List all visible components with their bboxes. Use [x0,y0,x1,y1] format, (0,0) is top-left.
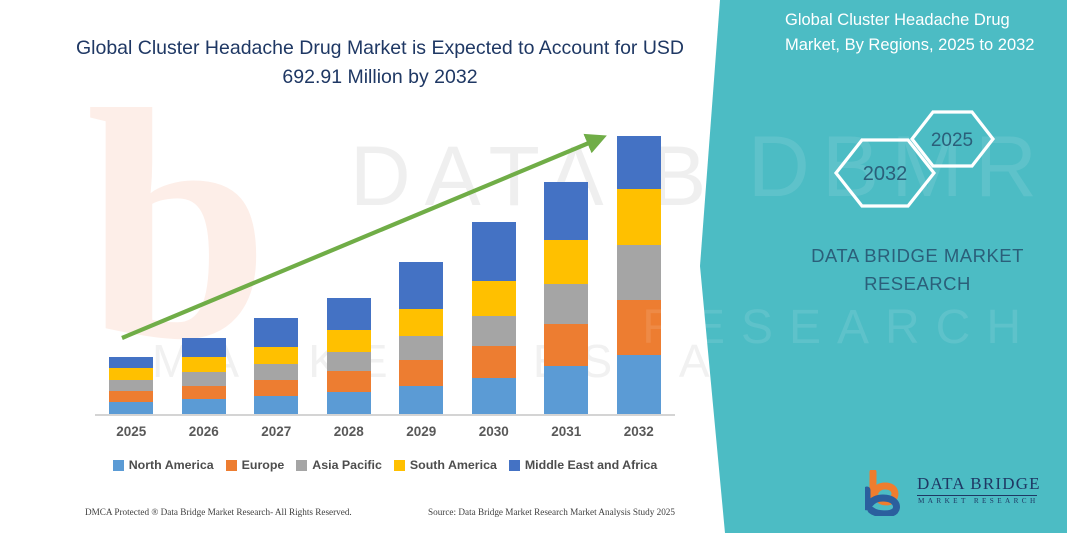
panel-watermark-top: DBMR [748,118,1049,217]
bar-segment [182,386,226,400]
footer-copyright: DMCA Protected ® Data Bridge Market Rese… [85,507,352,517]
bar-segment [399,262,443,309]
bar-segment [109,380,153,391]
bar-segment [472,346,516,378]
panel-title: Global Cluster Headache Drug Market, By … [785,8,1047,58]
bar-segment [617,245,661,300]
x-label-2030: 2030 [458,424,530,439]
bar-segment [399,386,443,415]
logo-name: DATA BRIDGE [917,474,1041,494]
bar-segment [327,298,371,330]
panel-brand-text: DATA BRIDGE MARKET RESEARCH [775,242,1060,298]
bar-segment [617,355,661,415]
x-label-2031: 2031 [530,424,602,439]
bar-segment [109,391,153,403]
bar-segment [544,366,588,415]
bar-segment [472,316,516,346]
bar-segment [617,189,661,246]
bar-segment [327,371,371,391]
bar-2028[interactable] [327,298,371,415]
bar-segment [472,281,516,315]
panel-watermark-bottom: RESEARCH [642,300,1037,355]
footer-source: Source: Data Bridge Market Research Mark… [428,507,675,517]
bar-2032[interactable] [617,136,661,415]
legend-label: North America [129,458,214,472]
bar-segment [472,378,516,415]
logo-tagline: MARKET RESEARCH [918,497,1039,505]
bar-segment [182,338,226,358]
bar-segment [399,360,443,385]
legend-label: Asia Pacific [312,458,382,472]
legend-label: Europe [242,458,285,472]
bar-2030[interactable] [472,222,516,415]
bar-segment [617,300,661,355]
x-axis-labels: 20252026202720282029203020312032 [95,424,675,446]
legend-swatch [113,460,124,471]
legend-swatch [226,460,237,471]
legend-item-middle-east-and-africa[interactable]: Middle East and Africa [509,458,657,472]
bar-segment [254,364,298,380]
bar-segment [254,347,298,365]
legend-swatch [296,460,307,471]
bar-segment [182,399,226,415]
bar-segment [182,372,226,386]
bar-2031[interactable] [544,182,588,415]
bar-2026[interactable] [182,338,226,415]
data-bridge-logo: DATA BRIDGE MARKET RESEARCH [865,470,1045,518]
bar-segment [617,136,661,189]
x-label-2027: 2027 [240,424,312,439]
bar-segment [254,396,298,415]
bar-segment [254,318,298,346]
bar-segment [472,222,516,282]
hexagon-2032-shape [836,140,934,206]
legend-item-asia-pacific[interactable]: Asia Pacific [296,458,382,472]
bar-segment [327,392,371,415]
bar-segment [327,352,371,372]
bar-segment [109,357,153,368]
bar-2029[interactable] [399,262,443,415]
bar-segment [109,368,153,380]
hexagon-2025-shape [912,112,993,166]
bar-segment [544,284,588,324]
legend-item-europe[interactable]: Europe [226,458,285,472]
x-label-2025: 2025 [95,424,167,439]
logo-mark-icon [865,470,915,516]
bar-2025[interactable] [109,357,153,415]
chart-title: Global Cluster Headache Drug Market is E… [60,34,700,92]
bar-segment [544,240,588,284]
bar-2027[interactable] [254,318,298,415]
chart-legend: North AmericaEuropeAsia PacificSouth Ame… [95,455,675,475]
bar-segment [399,309,443,336]
hexagon-2032-label: 2032 [863,163,908,185]
stacked-bar-chart [95,120,675,415]
x-label-2029: 2029 [385,424,457,439]
bar-segment [544,324,588,366]
legend-label: South America [410,458,497,472]
legend-item-south-america[interactable]: South America [394,458,497,472]
x-label-2032: 2032 [603,424,675,439]
legend-swatch [509,460,520,471]
logo-divider [917,495,1037,496]
bar-segment [327,330,371,351]
hexagon-2025-label: 2025 [931,130,973,151]
x-axis-line [95,414,675,416]
legend-item-north-america[interactable]: North America [113,458,214,472]
panel-background [687,0,1067,533]
x-label-2028: 2028 [313,424,385,439]
infographic-page: b DATA BRIDGE MARKET RESEARCH Global Clu… [0,0,1067,533]
legend-label: Middle East and Africa [525,458,657,472]
bar-segment [182,357,226,372]
bar-segment [544,182,588,241]
x-label-2026: 2026 [168,424,240,439]
bar-segment [399,336,443,360]
hexagon-group: 2032 2025 [820,95,1050,230]
legend-swatch [394,460,405,471]
footer: DMCA Protected ® Data Bridge Market Rese… [0,507,700,523]
bar-segment [254,380,298,397]
